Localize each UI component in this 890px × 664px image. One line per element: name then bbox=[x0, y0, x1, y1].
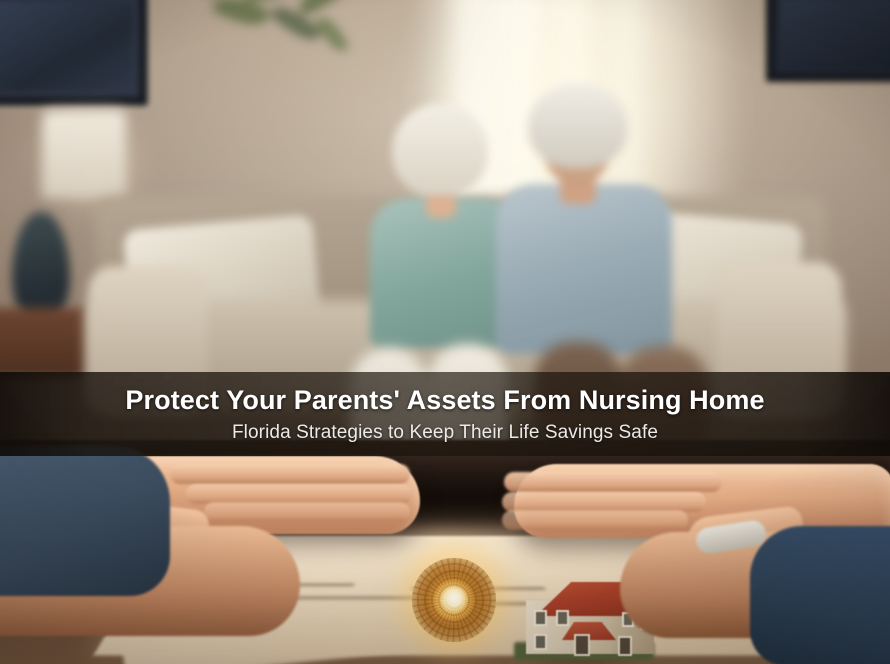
table-lamp bbox=[42, 110, 126, 198]
left-finger bbox=[186, 484, 412, 504]
hanging-plant bbox=[196, 0, 366, 100]
man-hair bbox=[528, 84, 628, 168]
title-banner: Protect Your Parents' Assets From Nursin… bbox=[0, 372, 890, 456]
right-sleeve bbox=[750, 526, 890, 664]
house-window bbox=[534, 634, 547, 650]
right-finger bbox=[504, 472, 722, 492]
framed-picture-right bbox=[766, 0, 890, 82]
plant-leaf bbox=[212, 0, 270, 31]
house-door bbox=[574, 634, 590, 656]
house-window bbox=[556, 610, 569, 626]
man-torso bbox=[496, 184, 672, 354]
banner-title: Protect Your Parents' Assets From Nursin… bbox=[125, 387, 764, 414]
plant-leaf bbox=[295, 0, 356, 16]
picture-mat bbox=[779, 0, 890, 69]
right-finger bbox=[502, 510, 688, 530]
banner-subtitle: Florida Strategies to Keep Their Life Sa… bbox=[232, 423, 658, 442]
woman-hair bbox=[392, 104, 488, 196]
hero-image: Protect Your Parents' Assets From Nursin… bbox=[0, 0, 890, 664]
picture-mat bbox=[0, 1, 133, 91]
left-finger bbox=[170, 464, 410, 484]
left-sleeve bbox=[0, 446, 170, 596]
elderly-couple bbox=[360, 70, 670, 370]
foreground-table-scene bbox=[0, 440, 890, 664]
right-finger bbox=[502, 492, 706, 512]
left-finger bbox=[204, 502, 410, 522]
house-window bbox=[534, 610, 547, 626]
house-door bbox=[618, 636, 632, 656]
